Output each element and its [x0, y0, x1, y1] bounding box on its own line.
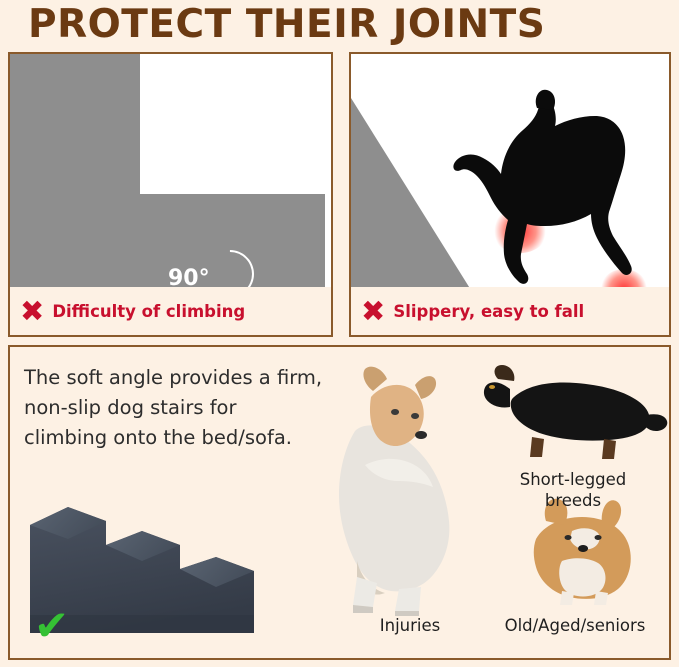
- page-title: PROTECT THEIR JOINTS: [28, 2, 545, 47]
- panel-slippery-easy-to-fall: ✖ Slippery, easy to fall: [349, 52, 671, 337]
- dachshund-image: [472, 355, 671, 470]
- product-description: The soft angle provides a firm, non-slip…: [24, 363, 322, 453]
- caption-text: Slippery, easy to fall: [393, 302, 584, 321]
- cross-icon: ✖: [20, 297, 44, 326]
- label-short-legged-breeds: Short-legged breeds: [498, 469, 648, 511]
- cross-icon: ✖: [361, 297, 385, 326]
- check-icon: ✔: [34, 605, 69, 647]
- label-line-2: breeds: [498, 490, 648, 511]
- label-injuries: Injuries: [340, 615, 480, 636]
- description-line-3: climbing onto the bed/sofa.: [24, 423, 322, 453]
- dog-in-recovery-suit-image: [295, 361, 475, 621]
- label-old-aged-seniors: Old/Aged/seniors: [480, 615, 670, 636]
- panel-difficulty-of-climbing: 90° ✖ Difficulty of climbing: [8, 52, 333, 337]
- panel-product-main: The soft angle provides a firm, non-slip…: [8, 345, 671, 660]
- stair-step-upper: [10, 54, 140, 199]
- label-line-1: Short-legged: [498, 469, 648, 490]
- caption-slippery: ✖ Slippery, easy to fall: [351, 287, 669, 335]
- description-line-1: The soft angle provides a firm,: [24, 363, 322, 393]
- description-line-2: non-slip dog stairs for: [24, 393, 322, 423]
- caption-difficulty: ✖ Difficulty of climbing: [10, 287, 331, 335]
- caption-text: Difficulty of climbing: [52, 302, 245, 321]
- page-root: PROTECT THEIR JOINTS 90° ✖ Difficulty of…: [0, 0, 679, 667]
